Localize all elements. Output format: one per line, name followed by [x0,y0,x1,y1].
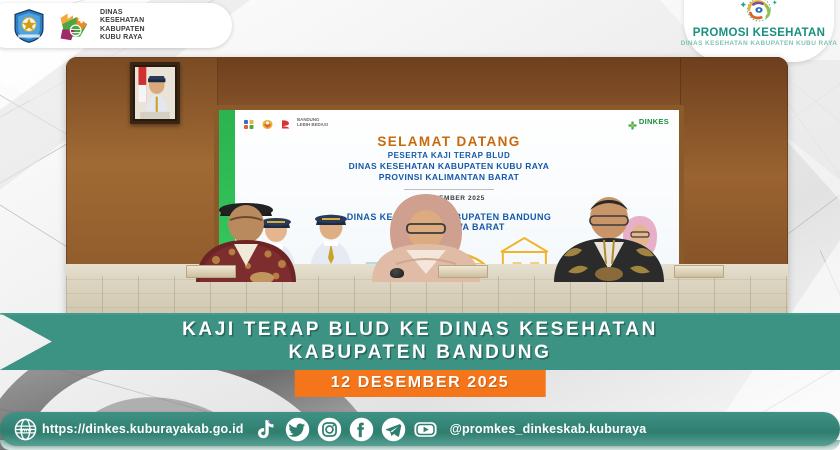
screen-line-1: PESERTA KAJI TERAP BLUD [219,151,679,160]
dinas-kesehatan-logo-icon [55,10,91,42]
tiktok-icon[interactable] [253,417,278,442]
table-microphone [390,268,404,278]
promosi-kesehatan-title: PROMOSI KESEHATAN [693,27,825,39]
social-handle[interactable]: @promkes_dinkeskab.kuburaya [450,422,647,436]
green-cross-icon [628,117,637,126]
screen-dinkes-logo: DINKES [628,117,669,126]
screen-welcome-heading: SELAMAT DATANG [219,134,679,149]
website-url[interactable]: https://dinkes.kuburayakab.go.id [42,422,244,436]
youtube-icon[interactable] [413,417,438,442]
kemenkes-logo-icon [243,117,256,128]
telegram-icon[interactable] [381,417,406,442]
table-nameplate-right [674,265,724,278]
table-nameplate-center [438,265,488,278]
poster-root: DINAS KESEHATAN KABUPATEN KUBU RAYA PROM… [0,0,840,450]
title-ribbon [0,313,840,370]
social-links [253,417,438,442]
promosi-kesehatan-subtitle: DINAS KESEHATAN KABUPATEN KUBU RAYA [681,40,838,47]
kubu-raya-regency-crest-icon [12,9,46,43]
wall-portrait-frame [130,62,180,124]
promosi-kesehatan-badge: PROMOSI KESEHATAN DINAS KESEHATAN KABUPA… [684,0,834,62]
footer-bar: www https://dinkes.kuburayakab.go.id [0,412,840,446]
seated-person-right [546,190,672,282]
organization-logo-pill: DINAS KESEHATAN KABUPATEN KUBU RAYA [0,3,232,48]
promosi-kesehatan-ring-icon [737,0,781,26]
screen-partner-logos: BANDUNG LEBIH BEDAS! [243,117,328,128]
date-badge: 12 DESEMBER 2025 [295,370,546,397]
facebook-icon[interactable] [349,417,374,442]
bandung-lebih-bedas-logo-icon [279,117,292,128]
instagram-icon[interactable] [317,417,342,442]
organization-name-text: DINAS KESEHATAN KABUPATEN KUBU RAYA [100,9,145,42]
screen-line-2: DINAS KESEHATAN KABUPATEN KUBU RAYA [219,161,679,171]
bandung-regency-logo-icon [261,117,274,128]
svg-text:www: www [18,427,32,433]
twitter-icon[interactable] [285,417,310,442]
screen-line-3: PROVINSI KALIMANTAN BARAT [219,172,679,182]
event-photo: BANDUNG LEBIH BEDAS! DINKES SELAMAT DATA… [66,57,788,322]
bandung-lebih-bedas-label: BANDUNG LEBIH BEDAS! [297,118,328,128]
table-nameplate-left [186,265,236,278]
dinkes-word: DINKES [639,117,669,126]
globe-www-icon: www [14,418,37,441]
